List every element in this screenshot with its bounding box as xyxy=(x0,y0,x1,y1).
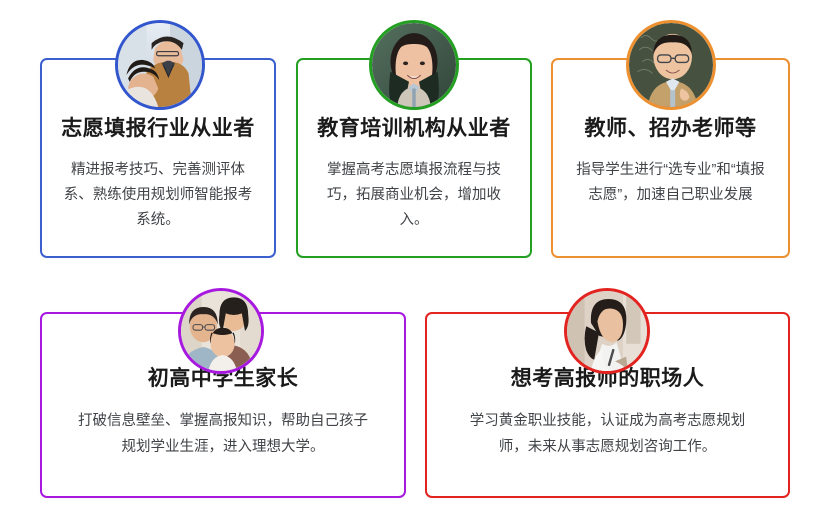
card-title: 教育培训机构从业者 xyxy=(317,116,511,142)
card-title: 志愿填报行业从业者 xyxy=(61,116,255,142)
avatar-woman-writing-notes xyxy=(564,288,650,374)
card-description: 掌握高考志愿填报流程与技巧，拓展商业机会，增加收入。 xyxy=(317,158,512,233)
audience-cards-section: 志愿填报行业从业者 精进报考技巧、完善测评体系、熟练使用规划师智能报考系统。 xyxy=(0,0,835,522)
card-title: 教师、招办老师等 xyxy=(585,116,757,142)
avatar-photo xyxy=(181,291,261,371)
avatar-photo xyxy=(567,291,647,371)
card-description: 指导学生进行“选专业”和“填报志愿”，加速自己职业发展 xyxy=(572,158,769,208)
avatar-smiling-woman-teacher xyxy=(369,20,459,110)
card-description: 打破信息壁垒、掌握高报知识，帮助自己孩子规划学业生涯，进入理想大学。 xyxy=(75,408,372,460)
avatar-photo xyxy=(372,23,456,107)
card-description: 精进报考技巧、完善测评体系、熟练使用规划师智能报考系统。 xyxy=(61,158,256,233)
avatar-two-people-consulting xyxy=(115,20,205,110)
card-description: 学习黄金职业技能，认证成为高考志愿规划师，未来从事志愿规划咨询工作。 xyxy=(459,408,755,460)
avatar-man-glasses-blackboard xyxy=(626,20,716,110)
avatar-photo xyxy=(118,23,202,107)
avatar-family-parents-and-child xyxy=(178,288,264,374)
avatar-photo xyxy=(629,23,713,107)
